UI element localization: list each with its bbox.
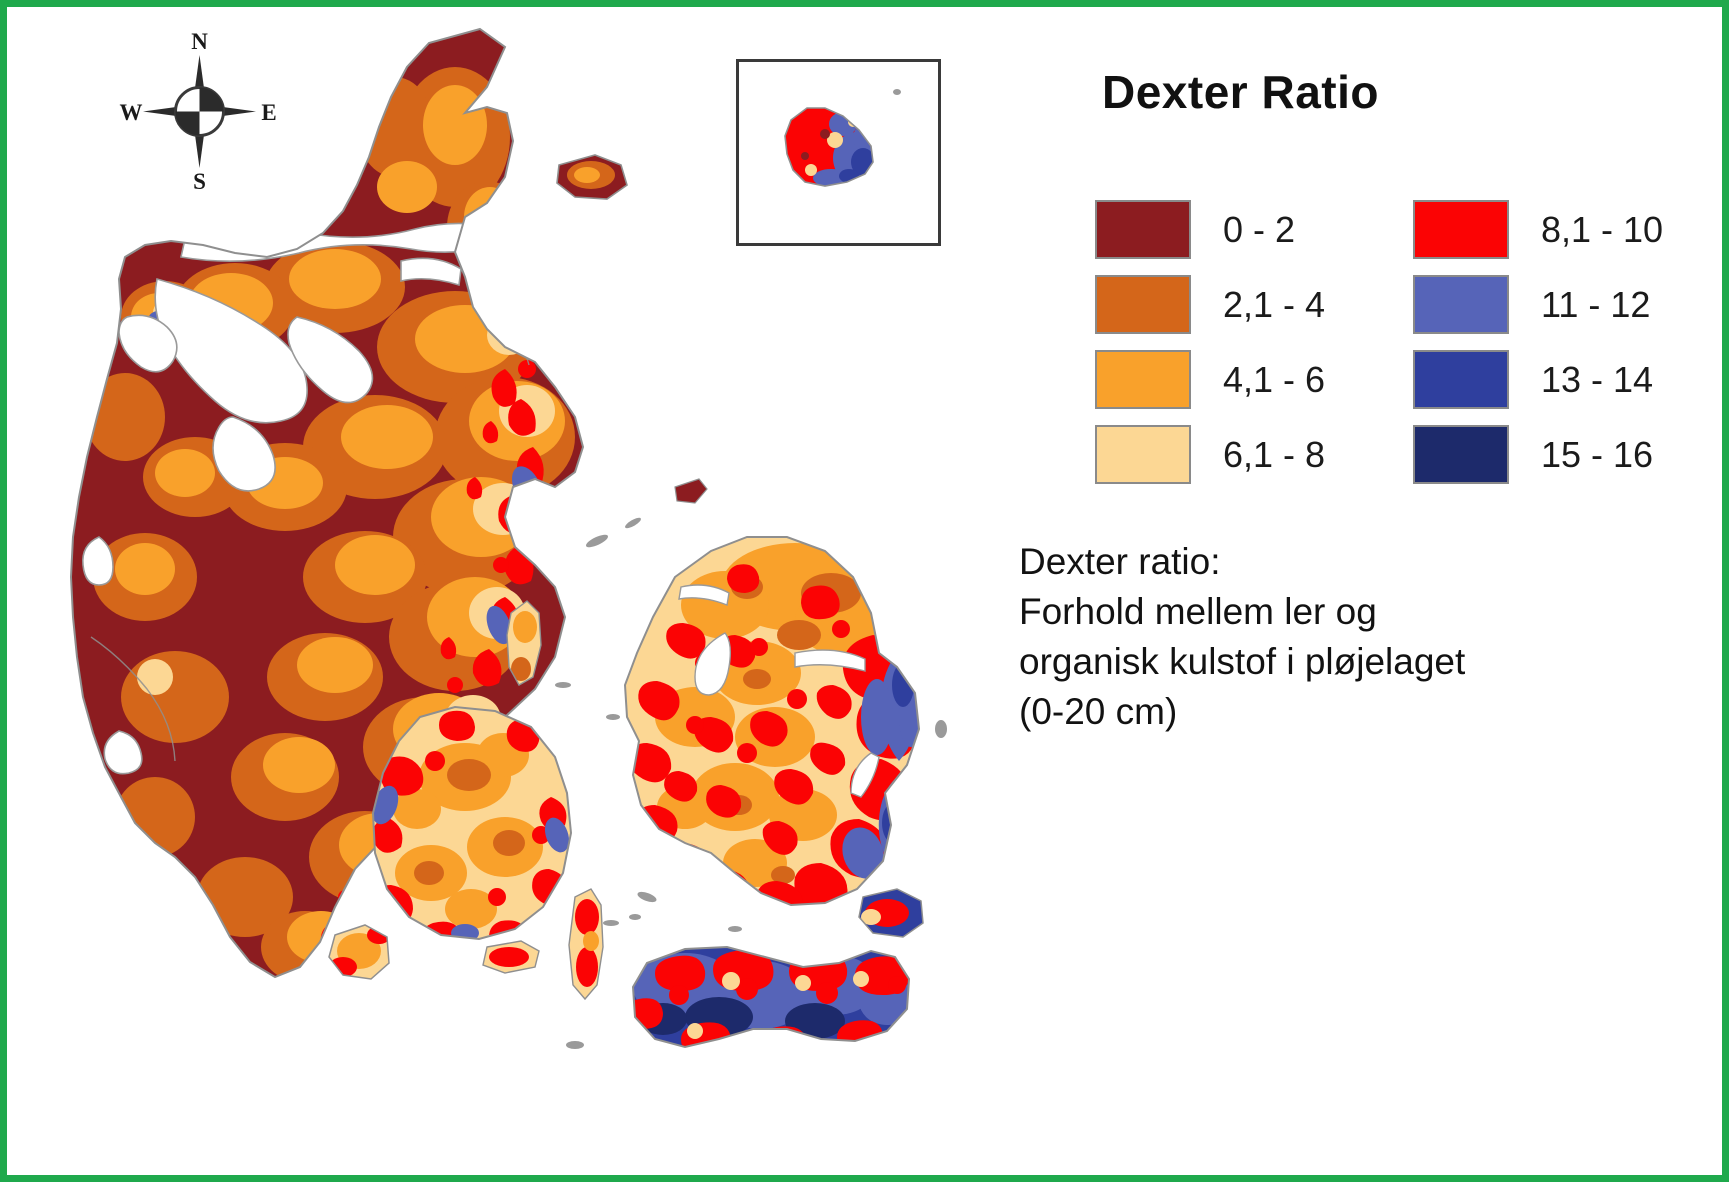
legend-swatch-4-6 (1095, 350, 1191, 409)
compass-rose: N S W E (117, 29, 282, 194)
compass-south-label: S (193, 169, 206, 194)
legend-item[interactable]: 0 - 2 (1095, 192, 1325, 267)
legend-label-13-14: 13 - 14 (1541, 359, 1653, 401)
legend-item[interactable]: 4,1 - 6 (1095, 342, 1325, 417)
legend-item[interactable]: 8,1 - 10 (1413, 192, 1663, 267)
legend-swatch-0-2 (1095, 200, 1191, 259)
legend-label-0-2: 0 - 2 (1223, 209, 1295, 251)
legend-item[interactable]: 6,1 - 8 (1095, 417, 1325, 492)
legend-label-2-4: 2,1 - 4 (1223, 284, 1325, 326)
bornholm-inset-svg (739, 62, 938, 243)
legend-item[interactable]: 11 - 12 (1413, 267, 1663, 342)
compass-north-label: N (191, 29, 208, 54)
compass-west-label: W (120, 100, 143, 125)
region-langeland (563, 883, 611, 1007)
legend-item[interactable]: 13 - 14 (1413, 342, 1663, 417)
legend-item[interactable]: 15 - 16 (1413, 417, 1663, 492)
legend-swatch-2-4 (1095, 275, 1191, 334)
legend-swatch-8-10 (1413, 200, 1509, 259)
bornholm-fill (779, 102, 883, 194)
region-anholt (675, 479, 707, 503)
figure-frame: N S W E (0, 0, 1729, 1182)
legend-swatch-11-12 (1413, 275, 1509, 334)
legend-label-11-12: 11 - 12 (1541, 284, 1650, 326)
legend-column-low: 0 - 2 2,1 - 4 4,1 - 6 6,1 - 8 (1095, 192, 1325, 492)
region-zealand (615, 522, 935, 925)
legend-item[interactable]: 2,1 - 4 (1095, 267, 1325, 342)
legend-swatch-6-8 (1095, 425, 1191, 484)
legend-swatch-15-16 (1413, 425, 1509, 484)
christiansoe-islet (893, 89, 901, 95)
description-line-3: organisk kulstof i pløjelaget (1019, 637, 1679, 687)
legend-label-4-6: 4,1 - 6 (1223, 359, 1325, 401)
legend-label-8-10: 8,1 - 10 (1541, 209, 1663, 251)
compass-east-label: E (261, 100, 276, 125)
map-description: Dexter ratio: Forhold mellem ler og orga… (1019, 537, 1679, 737)
legend-swatch-13-14 (1413, 350, 1509, 409)
description-line-2: Forhold mellem ler og (1019, 587, 1679, 637)
legend-label-15-16: 15 - 16 (1541, 434, 1653, 476)
description-line-4: (0-20 cm) (1019, 687, 1679, 737)
bornholm-inset (736, 59, 941, 246)
legend-column-high: 8,1 - 10 11 - 12 13 - 14 15 - 16 (1413, 192, 1663, 492)
description-line-1: Dexter ratio: (1019, 537, 1679, 587)
legend-label-6-8: 6,1 - 8 (1223, 434, 1325, 476)
legend-title: Dexter Ratio (1102, 65, 1379, 119)
